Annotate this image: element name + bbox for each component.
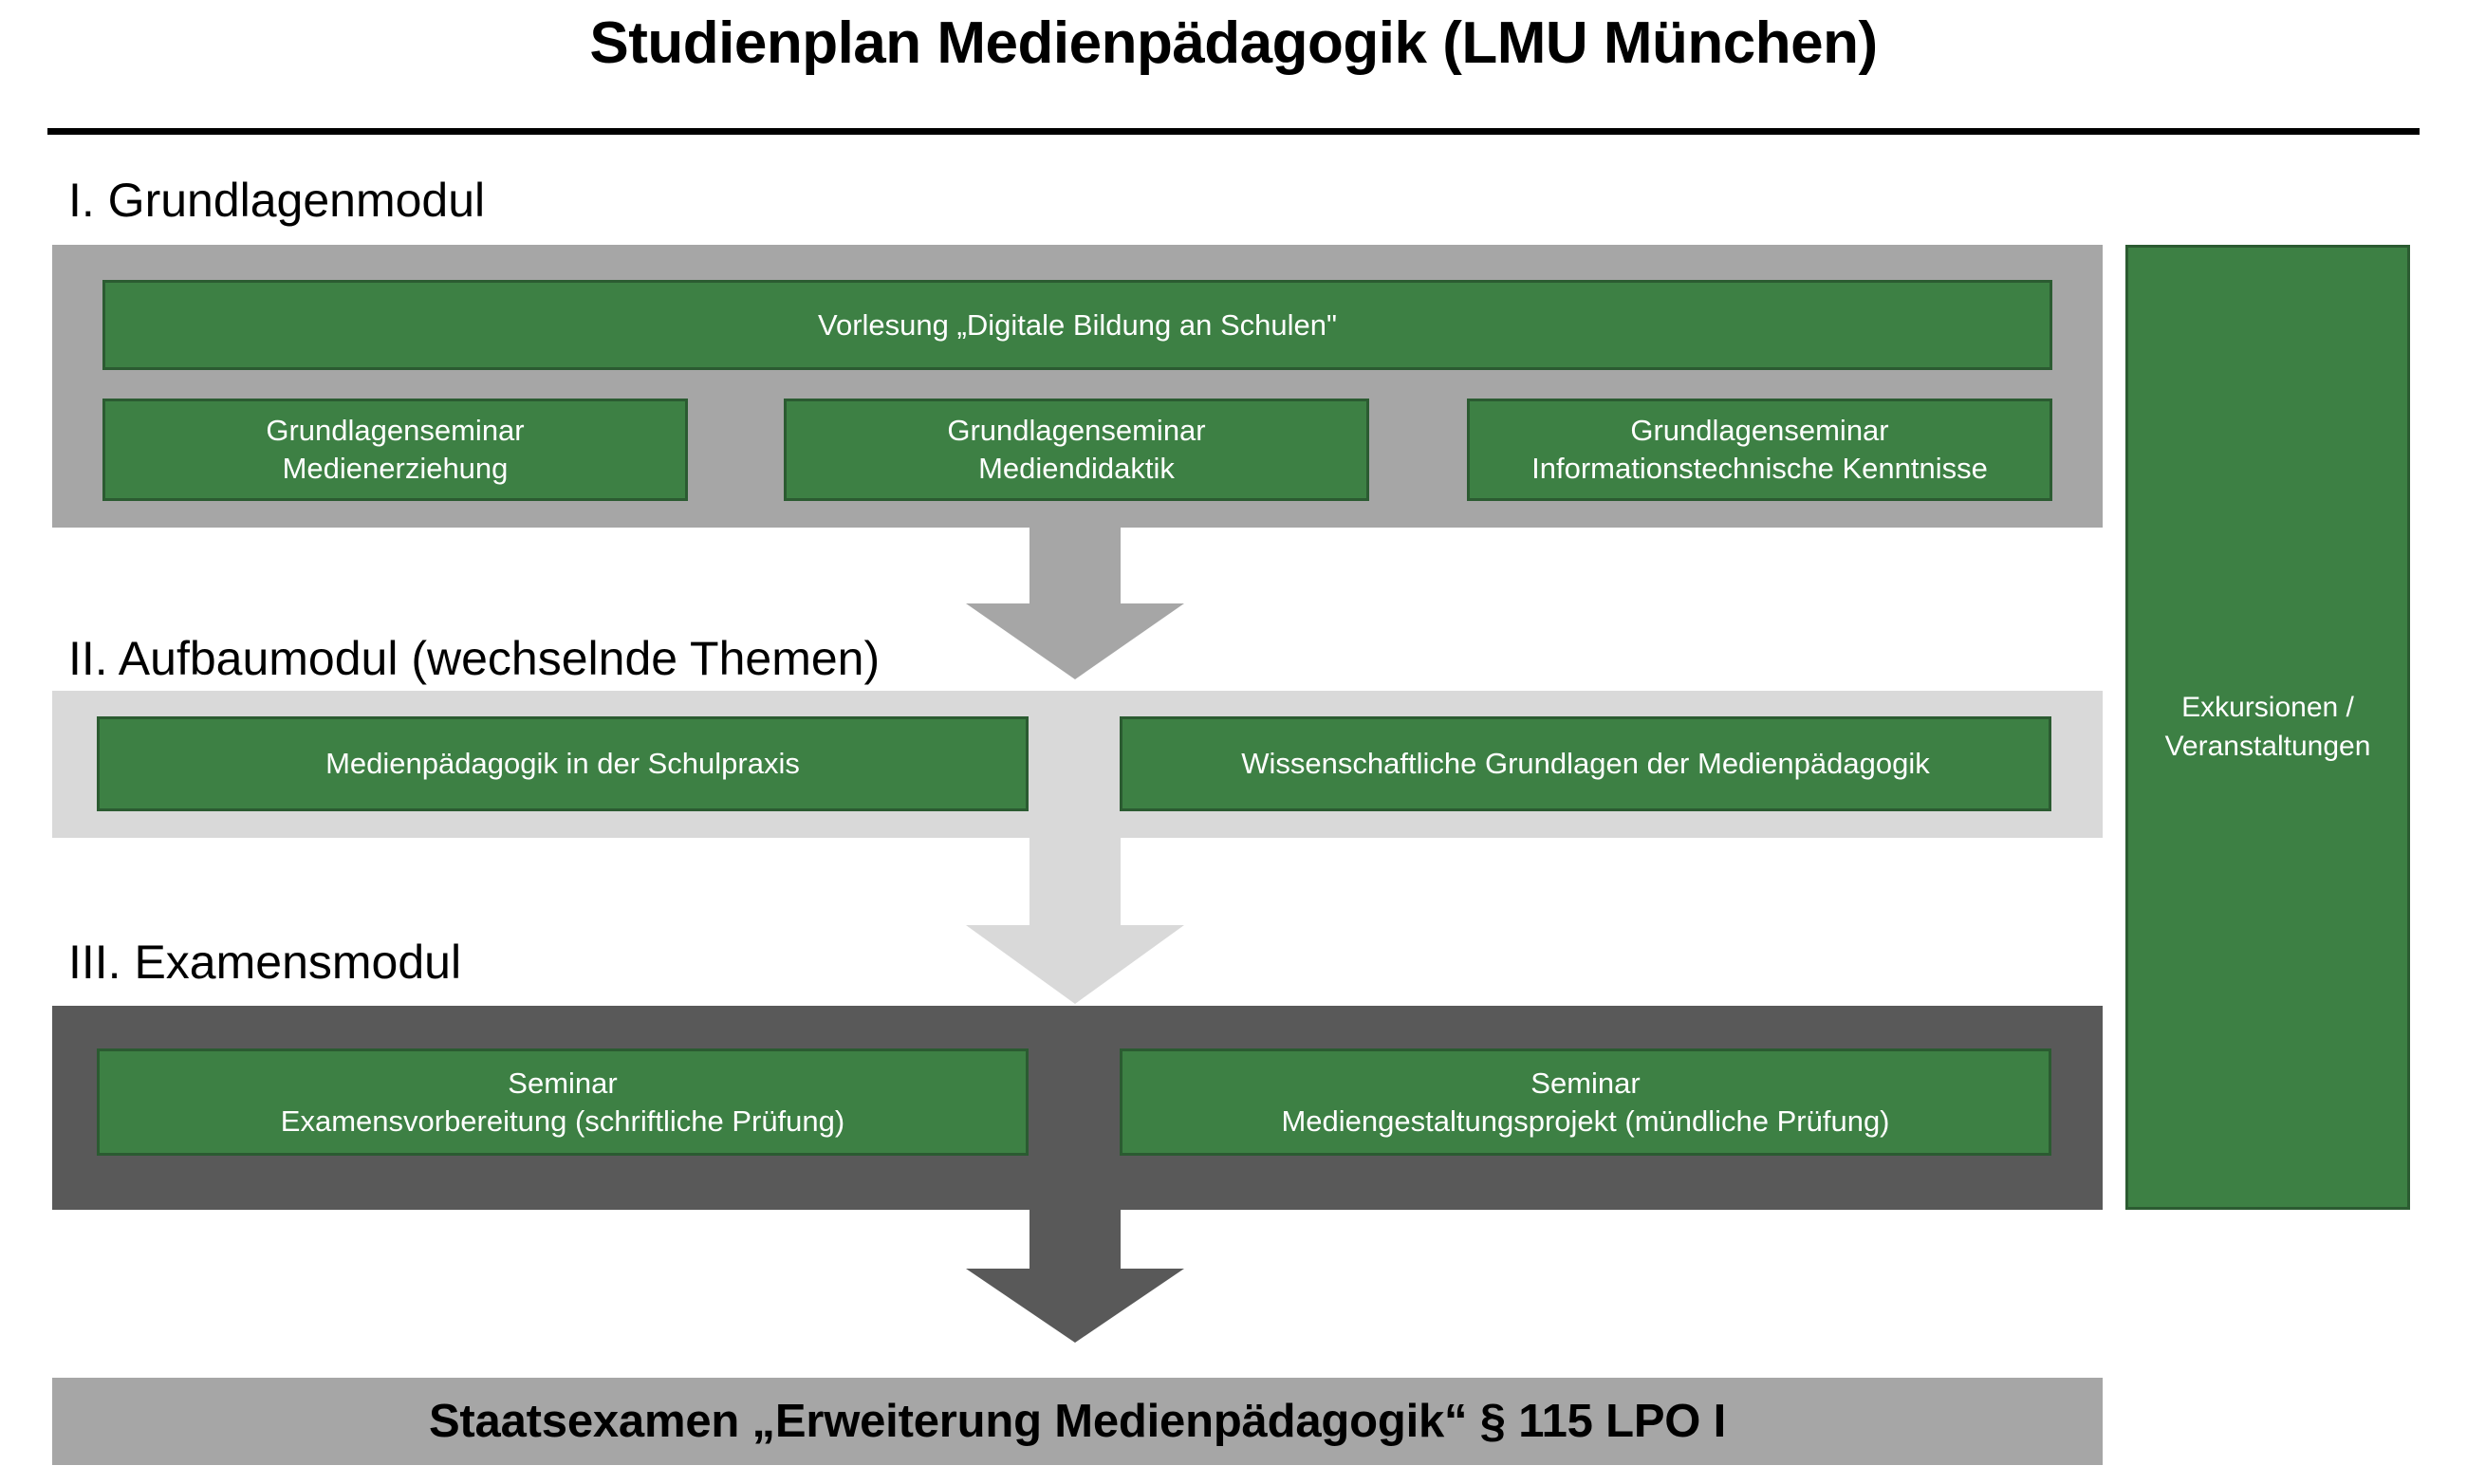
course-box-seminar-examensvorbereitung[interactable]: Seminar Examensvorbereitung (schriftlich… <box>97 1048 1029 1156</box>
section-heading-grundlagenmodul: I. Grundlagenmodul <box>68 173 485 228</box>
course-box-grundlagenseminar-medienerziehung[interactable]: Grundlagenseminar Medienerziehung <box>102 399 688 501</box>
footer-label: Staatsexamen „Erweiterung Medienpädagogi… <box>429 1395 1726 1448</box>
course-label-line-1: Grundlagenseminar <box>1479 412 2040 450</box>
side-box-label-line-2: Veranstaltungen <box>2165 728 2371 767</box>
arrow-band2-to-band3 <box>966 838 1184 1004</box>
course-box-grundlagenseminar-informationstechnische-kenntnisse[interactable]: Grundlagenseminar Informationstechnische… <box>1467 399 2052 501</box>
section-heading-aufbaumodul: II. Aufbaumodul (wechselnde Themen) <box>68 631 880 686</box>
course-label-line-2: Informationstechnische Kenntnisse <box>1479 450 2040 488</box>
course-label-line-2: Medienerziehung <box>115 450 676 488</box>
course-box-medienpaedagogik-schulpraxis[interactable]: Medienpädagogik in der Schulpraxis <box>97 716 1029 811</box>
footer-bar-staatsexamen: Staatsexamen „Erweiterung Medienpädagogi… <box>52 1378 2103 1465</box>
course-label: Vorlesung „Digitale Bildung an Schulen" <box>115 306 2040 344</box>
course-label-line-1: Grundlagenseminar <box>796 412 1357 450</box>
course-label-line-2: Mediendidaktik <box>796 450 1357 488</box>
side-box-label-line-1: Exkursionen / <box>2165 689 2371 728</box>
title-divider <box>47 128 2420 135</box>
section-heading-examensmodul: III. Examensmodul <box>68 935 461 990</box>
course-box-grundlagenseminar-mediendidaktik[interactable]: Grundlagenseminar Mediendidaktik <box>784 399 1369 501</box>
diagram-canvas: Studienplan Medienpädagogik (LMU München… <box>0 0 2467 1484</box>
course-box-vorlesung-digitale-bildung[interactable]: Vorlesung „Digitale Bildung an Schulen" <box>102 280 2052 370</box>
course-label-line-1: Seminar <box>1132 1065 2039 1103</box>
course-label-line-2: Mediengestaltungsprojekt (mündliche Prüf… <box>1132 1103 2039 1141</box>
course-label-line-1: Seminar <box>109 1065 1016 1103</box>
course-box-wissenschaftliche-grundlagen[interactable]: Wissenschaftliche Grundlagen der Medienp… <box>1120 716 2051 811</box>
page-title: Studienplan Medienpädagogik (LMU München… <box>0 9 2467 77</box>
side-box-exkursionen-veranstaltungen[interactable]: Exkursionen / Veranstaltungen <box>2125 245 2410 1210</box>
arrow-band1-to-band2 <box>966 528 1184 679</box>
course-box-seminar-mediengestaltungsprojekt[interactable]: Seminar Mediengestaltungsprojekt (mündli… <box>1120 1048 2051 1156</box>
course-label: Medienpädagogik in der Schulpraxis <box>109 745 1016 783</box>
arrow-band3-to-footer <box>966 1210 1184 1343</box>
course-label-line-2: Examensvorbereitung (schriftliche Prüfun… <box>109 1103 1016 1141</box>
course-label-line-1: Grundlagenseminar <box>115 412 676 450</box>
course-label: Wissenschaftliche Grundlagen der Medienp… <box>1132 745 2039 783</box>
